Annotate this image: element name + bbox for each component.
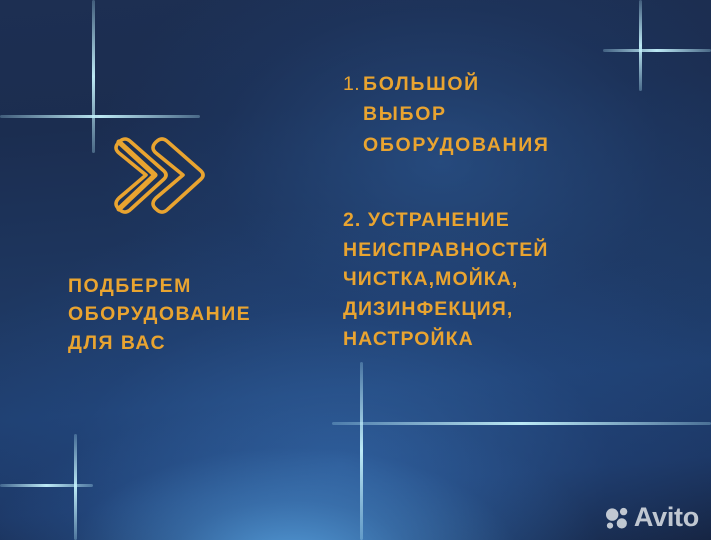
list-item-1-number: 1. (343, 69, 363, 99)
deco-line-top-right-horizontal (603, 49, 711, 52)
deco-line-top-left-horizontal (0, 115, 200, 118)
avito-dots-icon (604, 505, 630, 531)
promo-banner: ПОДБЕРЕМ ОБОРУДОВАНИЕ ДЛЯ ВАС 1. БОЛЬШОЙ… (0, 0, 711, 540)
avito-logo: Avito (604, 504, 699, 531)
deco-line-bottom-left-vertical (74, 434, 77, 540)
deco-line-bottom-left-horizontal (0, 484, 93, 487)
deco-line-center-bottom-horizontal (332, 422, 711, 425)
list-item-2: 2. УСТРАНЕНИЕ НЕИСПРАВНОСТЕЙ ЧИСТКА,МОЙК… (343, 206, 683, 354)
avito-wordmark: Avito (634, 504, 699, 531)
list-item-1-text: БОЛЬШОЙ ВЫБОР ОБОРУДОВАНИЯ (363, 69, 673, 160)
double-chevron-right-icon (108, 128, 212, 224)
left-headline: ПОДБЕРЕМ ОБОРУДОВАНИЕ ДЛЯ ВАС (68, 272, 338, 357)
deco-line-top-left-vertical (92, 0, 95, 153)
list-item-1: 1. БОЛЬШОЙ ВЫБОР ОБОРУДОВАНИЯ (343, 69, 673, 160)
deco-line-center-bottom-vertical (360, 362, 363, 540)
